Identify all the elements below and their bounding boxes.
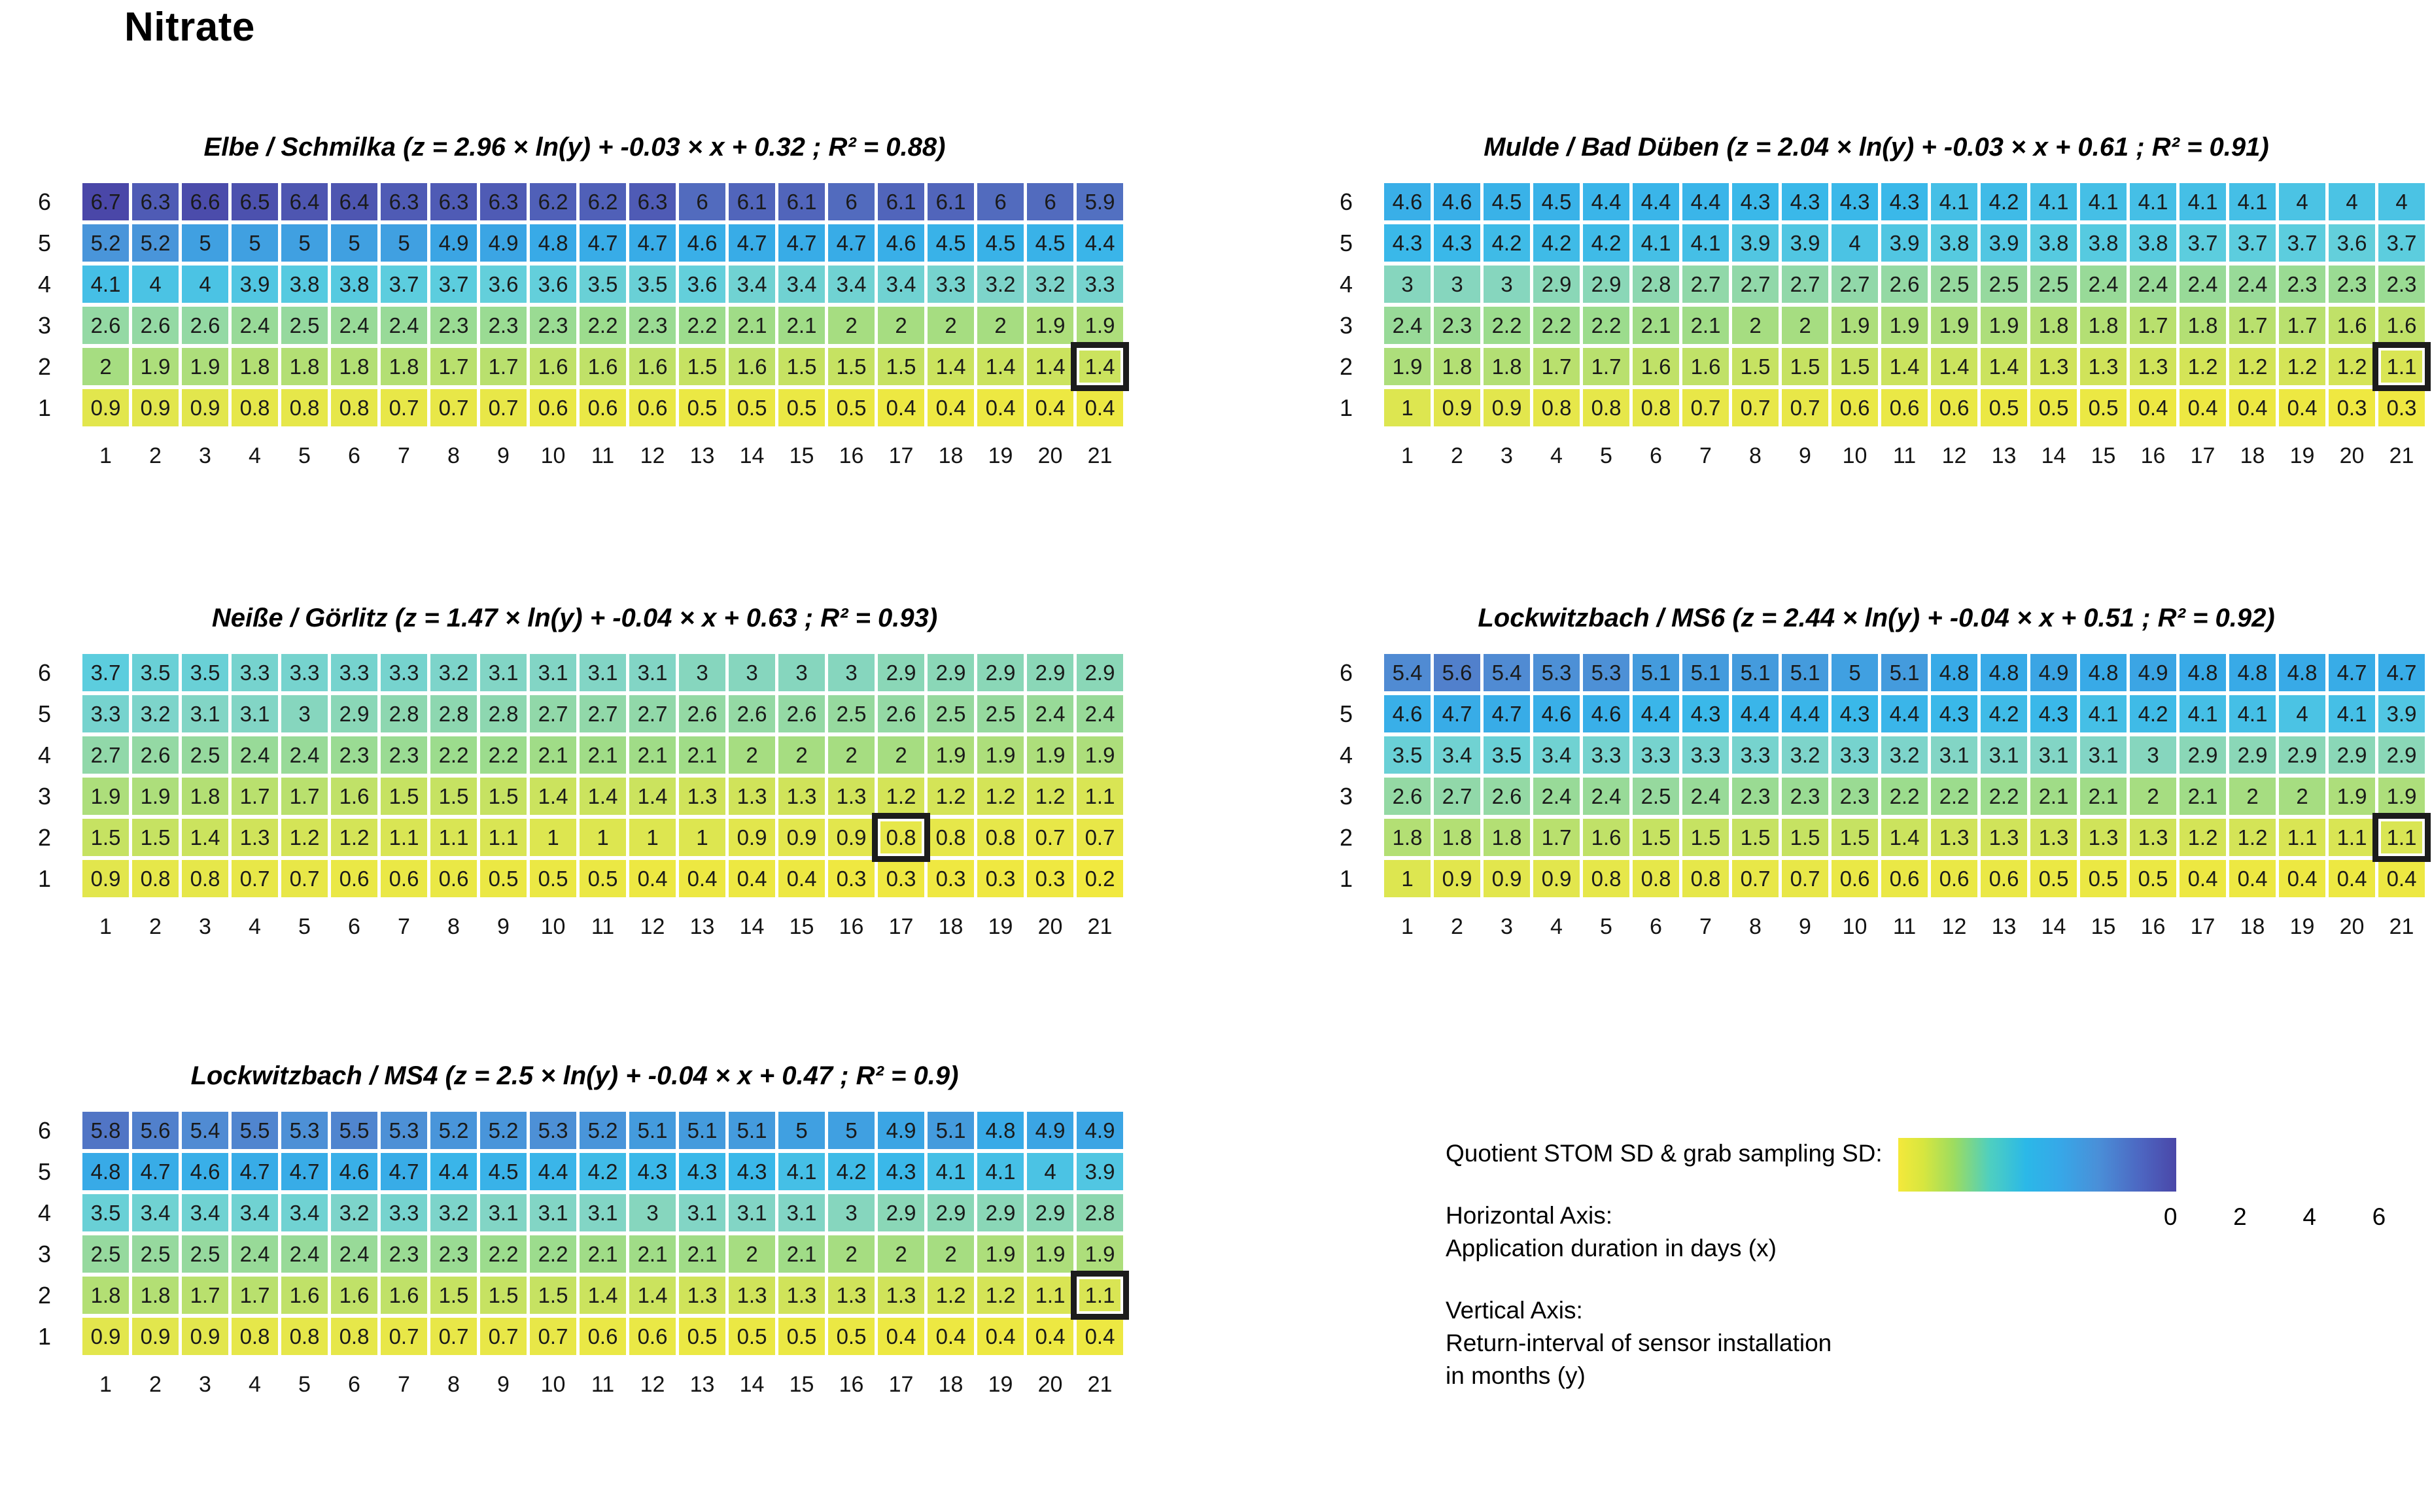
heatmap-cell[interactable]: 2 — [2229, 778, 2276, 815]
heatmap-cell[interactable]: 0.4 — [2378, 860, 2425, 897]
heatmap-cell[interactable]: 5.1 — [679, 1112, 725, 1149]
heatmap-cell[interactable]: 1.8 — [2030, 307, 2077, 344]
heatmap-cell[interactable]: 0.8 — [331, 1318, 377, 1355]
heatmap-cell[interactable]: 1.5 — [132, 819, 179, 856]
heatmap-cell[interactable]: 3.3 — [1633, 736, 1679, 774]
heatmap-cell[interactable]: 0.6 — [331, 860, 377, 897]
heatmap-cell[interactable]: 2.7 — [1782, 266, 1828, 303]
heatmap-cell[interactable]: 1.8 — [1484, 348, 1530, 385]
heatmap-cell[interactable]: 1.7 — [281, 778, 328, 815]
heatmap-cell[interactable]: 2 — [729, 1235, 775, 1273]
heatmap-cell[interactable]: 4.6 — [1384, 695, 1431, 732]
heatmap-cell[interactable]: 3.1 — [182, 695, 228, 732]
heatmap-cell[interactable]: 0.4 — [778, 860, 825, 897]
heatmap-cell[interactable]: 1.9 — [1981, 307, 2027, 344]
heatmap-cell[interactable]: 1.9 — [2329, 778, 2375, 815]
heatmap-cell[interactable]: 2.3 — [381, 1235, 427, 1273]
heatmap-cell[interactable]: 1.7 — [430, 348, 477, 385]
heatmap-cell[interactable]: 2 — [2130, 778, 2176, 815]
heatmap-cell[interactable]: 1.7 — [2229, 307, 2276, 344]
heatmap-cell[interactable]: 2.6 — [1484, 778, 1530, 815]
heatmap-cell[interactable]: 3.5 — [580, 266, 626, 303]
heatmap-cell[interactable]: 4.7 — [1434, 695, 1480, 732]
heatmap-cell[interactable]: 3.1 — [1981, 736, 2027, 774]
heatmap-cell[interactable]: 2.6 — [778, 695, 825, 732]
heatmap-cell[interactable]: 3.1 — [580, 1194, 626, 1231]
heatmap-cell[interactable]: 2.3 — [430, 1235, 477, 1273]
heatmap-cell[interactable]: 3.3 — [281, 654, 328, 691]
heatmap-cell[interactable]: 0.9 — [1434, 860, 1480, 897]
heatmap-cell[interactable]: 5 — [828, 1112, 875, 1149]
heatmap-cell[interactable]: 1.6 — [729, 348, 775, 385]
heatmap-cell[interactable]: 2.9 — [1027, 1194, 1073, 1231]
heatmap-cell[interactable]: 4.6 — [1583, 695, 1629, 732]
heatmap-cell[interactable]: 5.3 — [1583, 654, 1629, 691]
heatmap-cell[interactable]: 3 — [2130, 736, 2176, 774]
heatmap-cell[interactable]: 3.3 — [82, 695, 129, 732]
heatmap-cell[interactable]: 4.3 — [1782, 183, 1828, 220]
heatmap-cell[interactable]: 1.6 — [381, 1277, 427, 1314]
heatmap-cell[interactable]: 1.5 — [1782, 819, 1828, 856]
heatmap-cell[interactable]: 2.2 — [1484, 307, 1530, 344]
heatmap-cell[interactable]: 4.9 — [2130, 654, 2176, 691]
heatmap-cell[interactable]: 4.7 — [1484, 695, 1530, 732]
heatmap-cell[interactable]: 2 — [729, 736, 775, 774]
heatmap-cell[interactable]: 2.2 — [580, 307, 626, 344]
heatmap-cell[interactable]: 3.7 — [2180, 224, 2226, 262]
heatmap-cell[interactable]: 4.7 — [580, 224, 626, 262]
heatmap-cell[interactable]: 4 — [2378, 183, 2425, 220]
heatmap-cell[interactable]: 3.5 — [629, 266, 676, 303]
heatmap-cell[interactable]: 3.3 — [1583, 736, 1629, 774]
heatmap-cell[interactable]: 1.5 — [1832, 819, 1878, 856]
heatmap-cell[interactable]: 5.1 — [928, 1112, 974, 1149]
heatmap-cell[interactable]: 0.4 — [2180, 389, 2226, 426]
heatmap-cell[interactable]: 2.5 — [2030, 266, 2077, 303]
heatmap-cell[interactable]: 1.2 — [331, 819, 377, 856]
heatmap-cell[interactable]: 2.2 — [679, 307, 725, 344]
heatmap-cell[interactable]: 0.9 — [1484, 860, 1530, 897]
heatmap-cell[interactable]: 2.5 — [1633, 778, 1679, 815]
heatmap-cell[interactable]: 3.2 — [977, 266, 1024, 303]
heatmap-cell[interactable]: 4.5 — [1027, 224, 1073, 262]
heatmap-cell[interactable]: 0.5 — [679, 389, 725, 426]
heatmap-cell[interactable]: 6.3 — [430, 183, 477, 220]
heatmap-cell[interactable]: 2.5 — [182, 1235, 228, 1273]
heatmap-cell[interactable]: 1.5 — [1732, 819, 1779, 856]
heatmap-cell[interactable]: 2.6 — [729, 695, 775, 732]
heatmap-cell[interactable]: 2.3 — [1732, 778, 1779, 815]
heatmap-cell[interactable]: 1.2 — [2180, 348, 2226, 385]
heatmap-cell[interactable]: 0.9 — [1484, 389, 1530, 426]
heatmap-cell[interactable]: 0.5 — [530, 860, 576, 897]
heatmap-cell[interactable]: 3.1 — [1931, 736, 1977, 774]
heatmap-cell[interactable]: 0.7 — [1682, 389, 1729, 426]
heatmap-cell[interactable]: 0.9 — [82, 389, 129, 426]
heatmap-cell[interactable]: 4.6 — [182, 1153, 228, 1190]
heatmap-cell[interactable]: 1.5 — [679, 348, 725, 385]
heatmap-cell[interactable]: 3.1 — [232, 695, 278, 732]
heatmap-cell[interactable]: 2.9 — [2279, 736, 2325, 774]
heatmap-cell[interactable]: 0.7 — [1782, 860, 1828, 897]
heatmap-cell[interactable]: 3.7 — [2279, 224, 2325, 262]
heatmap-cell[interactable]: 0.5 — [1981, 389, 2027, 426]
heatmap-cell[interactable]: 1.5 — [82, 819, 129, 856]
heatmap-cell[interactable]: 2.5 — [182, 736, 228, 774]
heatmap-cell[interactable]: 1.1 — [2279, 819, 2325, 856]
heatmap-cell[interactable]: 3.5 — [1484, 736, 1530, 774]
heatmap-cell[interactable]: 6.1 — [878, 183, 924, 220]
heatmap-cell[interactable]: 4 — [1027, 1153, 1073, 1190]
heatmap-cell[interactable]: 2.5 — [82, 1235, 129, 1273]
heatmap-cell[interactable]: 5.1 — [629, 1112, 676, 1149]
heatmap-cell[interactable]: 0.9 — [82, 1318, 129, 1355]
heatmap-cell[interactable]: 1.6 — [331, 778, 377, 815]
heatmap-cell[interactable]: 0.4 — [629, 860, 676, 897]
heatmap-cell[interactable]: 0.4 — [2229, 860, 2276, 897]
heatmap-cell[interactable]: 0.5 — [2080, 860, 2127, 897]
heatmap-cell[interactable]: 3.6 — [679, 266, 725, 303]
heatmap-cell[interactable]: 2.9 — [977, 654, 1024, 691]
heatmap-cell[interactable]: 5.1 — [1633, 654, 1679, 691]
heatmap-cell[interactable]: 4.1 — [2229, 695, 2276, 732]
heatmap-cell[interactable]: 4.9 — [480, 224, 527, 262]
heatmap-cell[interactable]: 2.6 — [132, 736, 179, 774]
heatmap-cell[interactable]: 4.3 — [1732, 183, 1779, 220]
heatmap-cell[interactable]: 1.3 — [2130, 819, 2176, 856]
heatmap-cell[interactable]: 1.3 — [2130, 348, 2176, 385]
heatmap-cell[interactable]: 4.1 — [928, 1153, 974, 1190]
heatmap-cell[interactable]: 1.7 — [480, 348, 527, 385]
heatmap-cell[interactable]: 4.9 — [430, 224, 477, 262]
heatmap-cell[interactable]: 2.5 — [132, 1235, 179, 1273]
heatmap-cell[interactable]: 1.8 — [132, 1277, 179, 1314]
heatmap-cell[interactable]: 0.9 — [132, 389, 179, 426]
heatmap-cell[interactable]: 0.8 — [1633, 389, 1679, 426]
heatmap-cell[interactable]: 3.4 — [1533, 736, 1580, 774]
heatmap-cell[interactable]: 2.3 — [1434, 307, 1480, 344]
heatmap-cell[interactable]: 3.6 — [530, 266, 576, 303]
heatmap-cell[interactable]: 1.7 — [2279, 307, 2325, 344]
heatmap-cell[interactable]: 1.1 — [1027, 1277, 1073, 1314]
heatmap-cell[interactable]: 0.8 — [1682, 860, 1729, 897]
heatmap-cell[interactable]: 2.7 — [1832, 266, 1878, 303]
heatmap-cell[interactable]: 0.2 — [1077, 860, 1123, 897]
heatmap-cell[interactable]: 3.4 — [182, 1194, 228, 1231]
heatmap-cell[interactable]: 1 — [1384, 860, 1431, 897]
heatmap-cell[interactable]: 0.7 — [1732, 389, 1779, 426]
heatmap-cell[interactable]: 1.6 — [1633, 348, 1679, 385]
heatmap-cell[interactable]: 3.4 — [828, 266, 875, 303]
heatmap-cell[interactable]: 4.6 — [331, 1153, 377, 1190]
heatmap-cell[interactable]: 2 — [1782, 307, 1828, 344]
heatmap-cell[interactable]: 3.1 — [480, 654, 527, 691]
heatmap-cell[interactable]: 3 — [1384, 266, 1431, 303]
heatmap-cell[interactable]: 3 — [281, 695, 328, 732]
heatmap-cell[interactable]: 5 — [281, 224, 328, 262]
heatmap-cell[interactable]: 2.2 — [1981, 778, 2027, 815]
heatmap-cell[interactable]: 2.7 — [1732, 266, 1779, 303]
heatmap-cell[interactable]: 4.7 — [629, 224, 676, 262]
heatmap-cell[interactable]: 2.6 — [1881, 266, 1928, 303]
heatmap-cell[interactable]: 1 — [629, 819, 676, 856]
heatmap-cell[interactable]: 2 — [82, 348, 129, 385]
heatmap-cell[interactable]: 2.9 — [2329, 736, 2375, 774]
heatmap-cell[interactable]: 4.3 — [1832, 695, 1878, 732]
heatmap-cell[interactable]: 0.8 — [1583, 389, 1629, 426]
heatmap-cell[interactable]: 3.1 — [729, 1194, 775, 1231]
heatmap-cell[interactable]: 1 — [679, 819, 725, 856]
heatmap-cell[interactable]: 4.7 — [2329, 654, 2375, 691]
heatmap-cell[interactable]: 2.5 — [977, 695, 1024, 732]
heatmap-cell[interactable]: 3.6 — [2329, 224, 2375, 262]
heatmap-cell[interactable]: 0.8 — [281, 1318, 328, 1355]
heatmap-cell[interactable]: 0.4 — [1077, 1318, 1123, 1355]
heatmap-cell[interactable]: 2.9 — [331, 695, 377, 732]
heatmap-cell[interactable]: 1.8 — [82, 1277, 129, 1314]
heatmap-cell[interactable]: 1.7 — [2130, 307, 2176, 344]
heatmap-cell[interactable]: 2.4 — [2180, 266, 2226, 303]
heatmap-cell[interactable]: 4.3 — [1434, 224, 1480, 262]
heatmap-cell[interactable]: 1.9 — [1027, 736, 1073, 774]
heatmap-cell[interactable]: 0.7 — [480, 389, 527, 426]
heatmap-cell[interactable]: 2.3 — [480, 307, 527, 344]
heatmap-cell[interactable]: 3 — [778, 654, 825, 691]
heatmap-cell[interactable]: 5.3 — [1533, 654, 1580, 691]
heatmap-cell[interactable]: 1.9 — [132, 778, 179, 815]
heatmap-cell[interactable]: 2.9 — [1583, 266, 1629, 303]
heatmap-cell[interactable]: 0.7 — [381, 389, 427, 426]
heatmap-cell[interactable]: 0.8 — [928, 819, 974, 856]
heatmap-cell[interactable]: 2.3 — [1782, 778, 1828, 815]
heatmap-cell[interactable]: 1.6 — [530, 348, 576, 385]
heatmap-cell[interactable]: 4.4 — [530, 1153, 576, 1190]
heatmap-cell[interactable]: 6.1 — [729, 183, 775, 220]
heatmap-cell[interactable]: 0.8 — [1533, 389, 1580, 426]
heatmap-cell[interactable]: 0.9 — [1434, 389, 1480, 426]
heatmap-cell[interactable]: 1.9 — [1027, 1235, 1073, 1273]
heatmap-cell[interactable]: 4.4 — [1732, 695, 1779, 732]
heatmap-cell[interactable]: 2.1 — [679, 1235, 725, 1273]
heatmap-cell[interactable]: 2 — [828, 736, 875, 774]
heatmap-cell[interactable]: 2 — [928, 307, 974, 344]
heatmap-cell[interactable]: 2.1 — [778, 307, 825, 344]
heatmap-cell[interactable]: 1.9 — [1384, 348, 1431, 385]
heatmap-cell[interactable]: 3.9 — [1077, 1153, 1123, 1190]
heatmap-cell[interactable]: 2.7 — [82, 736, 129, 774]
heatmap-cell[interactable]: 4 — [182, 266, 228, 303]
heatmap-cell[interactable]: 0.6 — [629, 1318, 676, 1355]
heatmap-cell[interactable]: 0.9 — [82, 860, 129, 897]
heatmap-cell[interactable]: 5 — [1832, 654, 1878, 691]
heatmap-cell[interactable]: 2.4 — [1682, 778, 1729, 815]
heatmap-cell[interactable]: 1.8 — [281, 348, 328, 385]
heatmap-cell[interactable]: 0.8 — [331, 389, 377, 426]
heatmap-cell[interactable]: 1.3 — [729, 1277, 775, 1314]
heatmap-cell[interactable]: 1.4 — [928, 348, 974, 385]
heatmap-cell[interactable]: 3.7 — [381, 266, 427, 303]
heatmap-cell[interactable]: 6.2 — [530, 183, 576, 220]
heatmap-cell[interactable]: 4.4 — [1583, 183, 1629, 220]
heatmap-cell[interactable]: 4.1 — [2229, 183, 2276, 220]
heatmap-cell[interactable]: 2.1 — [1682, 307, 1729, 344]
heatmap-cell[interactable]: 2.8 — [1633, 266, 1679, 303]
heatmap-cell[interactable]: 2.4 — [381, 307, 427, 344]
heatmap-cell[interactable]: 5.4 — [182, 1112, 228, 1149]
heatmap-cell[interactable]: 2.4 — [281, 1235, 328, 1273]
heatmap-cell[interactable]: 1.6 — [1682, 348, 1729, 385]
heatmap-cell[interactable]: 3.4 — [132, 1194, 179, 1231]
heatmap-cell[interactable]: 0.4 — [679, 860, 725, 897]
heatmap-cell[interactable]: 6.3 — [132, 183, 179, 220]
heatmap-cell[interactable]: 5.4 — [1384, 654, 1431, 691]
heatmap-cell[interactable]: 2.9 — [2378, 736, 2425, 774]
heatmap-cell[interactable]: 2.4 — [2229, 266, 2276, 303]
heatmap-cell[interactable]: 3.3 — [1682, 736, 1729, 774]
heatmap-cell[interactable]: 4.2 — [828, 1153, 875, 1190]
heatmap-cell[interactable]: 3.1 — [480, 1194, 527, 1231]
heatmap-cell[interactable]: 0.7 — [381, 1318, 427, 1355]
heatmap-cell[interactable]: 1.7 — [1533, 348, 1580, 385]
heatmap-cell[interactable]: 4.1 — [2180, 695, 2226, 732]
heatmap-cell[interactable]: 1.6 — [2329, 307, 2375, 344]
heatmap-cell[interactable]: 0.7 — [1782, 389, 1828, 426]
heatmap-cell[interactable]: 1.9 — [82, 778, 129, 815]
heatmap-cell[interactable]: 2.4 — [232, 307, 278, 344]
heatmap-cell[interactable]: 1.5 — [381, 778, 427, 815]
heatmap-cell[interactable]: 2 — [778, 736, 825, 774]
heatmap-cell[interactable]: 5.2 — [82, 224, 129, 262]
heatmap-cell[interactable]: 1.8 — [232, 348, 278, 385]
heatmap-cell[interactable]: 2.3 — [381, 736, 427, 774]
heatmap-cell[interactable]: 2.8 — [480, 695, 527, 732]
heatmap-cell[interactable]: 1.2 — [878, 778, 924, 815]
heatmap-cell[interactable]: 1.9 — [1077, 736, 1123, 774]
heatmap-cell[interactable]: 0.7 — [232, 860, 278, 897]
heatmap-cell[interactable]: 0.5 — [2030, 389, 2077, 426]
heatmap-cell[interactable]: 0.9 — [828, 819, 875, 856]
heatmap-cell[interactable]: 2.6 — [878, 695, 924, 732]
heatmap-cell[interactable]: 4 — [132, 266, 179, 303]
heatmap-cell[interactable]: 1.5 — [828, 348, 875, 385]
heatmap-cell[interactable]: 2 — [828, 1235, 875, 1273]
heatmap-cell[interactable]: 3.8 — [331, 266, 377, 303]
heatmap-cell[interactable]: 3.3 — [331, 654, 377, 691]
heatmap-cell[interactable]: 0.6 — [1832, 860, 1878, 897]
heatmap-cell[interactable]: 6 — [679, 183, 725, 220]
heatmap-cell[interactable]: 1.3 — [828, 1277, 875, 1314]
heatmap-cell[interactable]: 6 — [828, 183, 875, 220]
heatmap-cell[interactable]: 3 — [1484, 266, 1530, 303]
heatmap-cell[interactable]: 1.6 — [281, 1277, 328, 1314]
heatmap-cell[interactable]: 5.9 — [1077, 183, 1123, 220]
heatmap-cell[interactable]: 1.9 — [1832, 307, 1878, 344]
heatmap-cell[interactable]: 2.7 — [1682, 266, 1729, 303]
heatmap-cell[interactable]: 1.9 — [2378, 778, 2425, 815]
heatmap-cell[interactable]: 5.5 — [232, 1112, 278, 1149]
heatmap-cell[interactable]: 4.4 — [1782, 695, 1828, 732]
heatmap-cell[interactable]: 2.5 — [828, 695, 875, 732]
heatmap-cell[interactable]: 1.3 — [2080, 348, 2127, 385]
heatmap-cell[interactable]: 2.3 — [2329, 266, 2375, 303]
heatmap-cell[interactable]: 1.2 — [928, 1277, 974, 1314]
heatmap-cell[interactable]: 0.4 — [928, 389, 974, 426]
heatmap-cell[interactable]: 0.4 — [729, 860, 775, 897]
heatmap-cell[interactable]: 0.9 — [182, 389, 228, 426]
heatmap-cell[interactable]: 0.3 — [878, 860, 924, 897]
heatmap-cell[interactable]: 3.3 — [1732, 736, 1779, 774]
heatmap-cell[interactable]: 1.4 — [530, 778, 576, 815]
heatmap-cell[interactable]: 3.8 — [281, 266, 328, 303]
heatmap-cell[interactable]: 4.8 — [977, 1112, 1024, 1149]
heatmap-cell[interactable]: 0.3 — [928, 860, 974, 897]
heatmap-cell[interactable]: 1.8 — [1484, 819, 1530, 856]
heatmap-cell[interactable]: 5.2 — [132, 224, 179, 262]
heatmap-cell[interactable]: 4.8 — [2279, 654, 2325, 691]
heatmap-cell[interactable]: 4.9 — [878, 1112, 924, 1149]
heatmap-cell[interactable]: 1.4 — [1981, 348, 2027, 385]
heatmap-cell[interactable]: 3.1 — [530, 1194, 576, 1231]
heatmap-cell[interactable]: 0.8 — [977, 819, 1024, 856]
heatmap-cell[interactable]: 0.8 — [182, 860, 228, 897]
heatmap-cell[interactable]: 4.4 — [1633, 183, 1679, 220]
heatmap-cell[interactable]: 0.4 — [878, 389, 924, 426]
heatmap-cell-highlighted[interactable]: 0.8 — [878, 819, 924, 856]
heatmap-cell[interactable]: 2.3 — [530, 307, 576, 344]
heatmap-cell[interactable]: 1.3 — [2030, 348, 2077, 385]
heatmap-cell[interactable]: 0.7 — [281, 860, 328, 897]
heatmap-cell[interactable]: 0.5 — [828, 1318, 875, 1355]
heatmap-cell[interactable]: 3.3 — [381, 1194, 427, 1231]
heatmap-cell[interactable]: 0.4 — [928, 1318, 974, 1355]
heatmap-cell[interactable]: 2.9 — [928, 1194, 974, 1231]
heatmap-cell[interactable]: 0.5 — [480, 860, 527, 897]
heatmap-cell[interactable]: 2.3 — [331, 736, 377, 774]
heatmap-cell[interactable]: 4.5 — [928, 224, 974, 262]
heatmap-cell[interactable]: 3.2 — [1027, 266, 1073, 303]
heatmap-cell[interactable]: 1.4 — [977, 348, 1024, 385]
heatmap-cell[interactable]: 0.6 — [1931, 389, 1977, 426]
heatmap-cell[interactable]: 1.5 — [480, 778, 527, 815]
heatmap-cell[interactable]: 4.3 — [679, 1153, 725, 1190]
heatmap-cell[interactable]: 0.8 — [1633, 860, 1679, 897]
heatmap-cell[interactable]: 0.5 — [778, 1318, 825, 1355]
heatmap-cell[interactable]: 4.7 — [132, 1153, 179, 1190]
heatmap-cell[interactable]: 2.5 — [1981, 266, 2027, 303]
heatmap-cell[interactable]: 1.4 — [1881, 819, 1928, 856]
heatmap-cell[interactable]: 4.8 — [1981, 654, 2027, 691]
heatmap-cell[interactable]: 1.9 — [1077, 307, 1123, 344]
heatmap-cell[interactable]: 0.4 — [2130, 389, 2176, 426]
heatmap-cell[interactable]: 4.7 — [281, 1153, 328, 1190]
heatmap-cell[interactable]: 3.2 — [1782, 736, 1828, 774]
heatmap-cell[interactable]: 0.3 — [2378, 389, 2425, 426]
heatmap-cell[interactable]: 5.2 — [580, 1112, 626, 1149]
heatmap-cell[interactable]: 2.9 — [2180, 736, 2226, 774]
heatmap-cell[interactable]: 3.9 — [1881, 224, 1928, 262]
heatmap-cell[interactable]: 1.2 — [2229, 819, 2276, 856]
heatmap-cell[interactable]: 0.6 — [381, 860, 427, 897]
heatmap-cell[interactable]: 1.2 — [281, 819, 328, 856]
heatmap-cell[interactable]: 4.4 — [1682, 183, 1729, 220]
heatmap-cell[interactable]: 6.1 — [928, 183, 974, 220]
heatmap-cell[interactable]: 2.4 — [232, 736, 278, 774]
heatmap-cell[interactable]: 1 — [1384, 389, 1431, 426]
heatmap-cell[interactable]: 4.7 — [232, 1153, 278, 1190]
heatmap-cell[interactable]: 3.8 — [2130, 224, 2176, 262]
heatmap-cell[interactable]: 0.3 — [2329, 389, 2375, 426]
heatmap-cell[interactable]: 1.5 — [1682, 819, 1729, 856]
